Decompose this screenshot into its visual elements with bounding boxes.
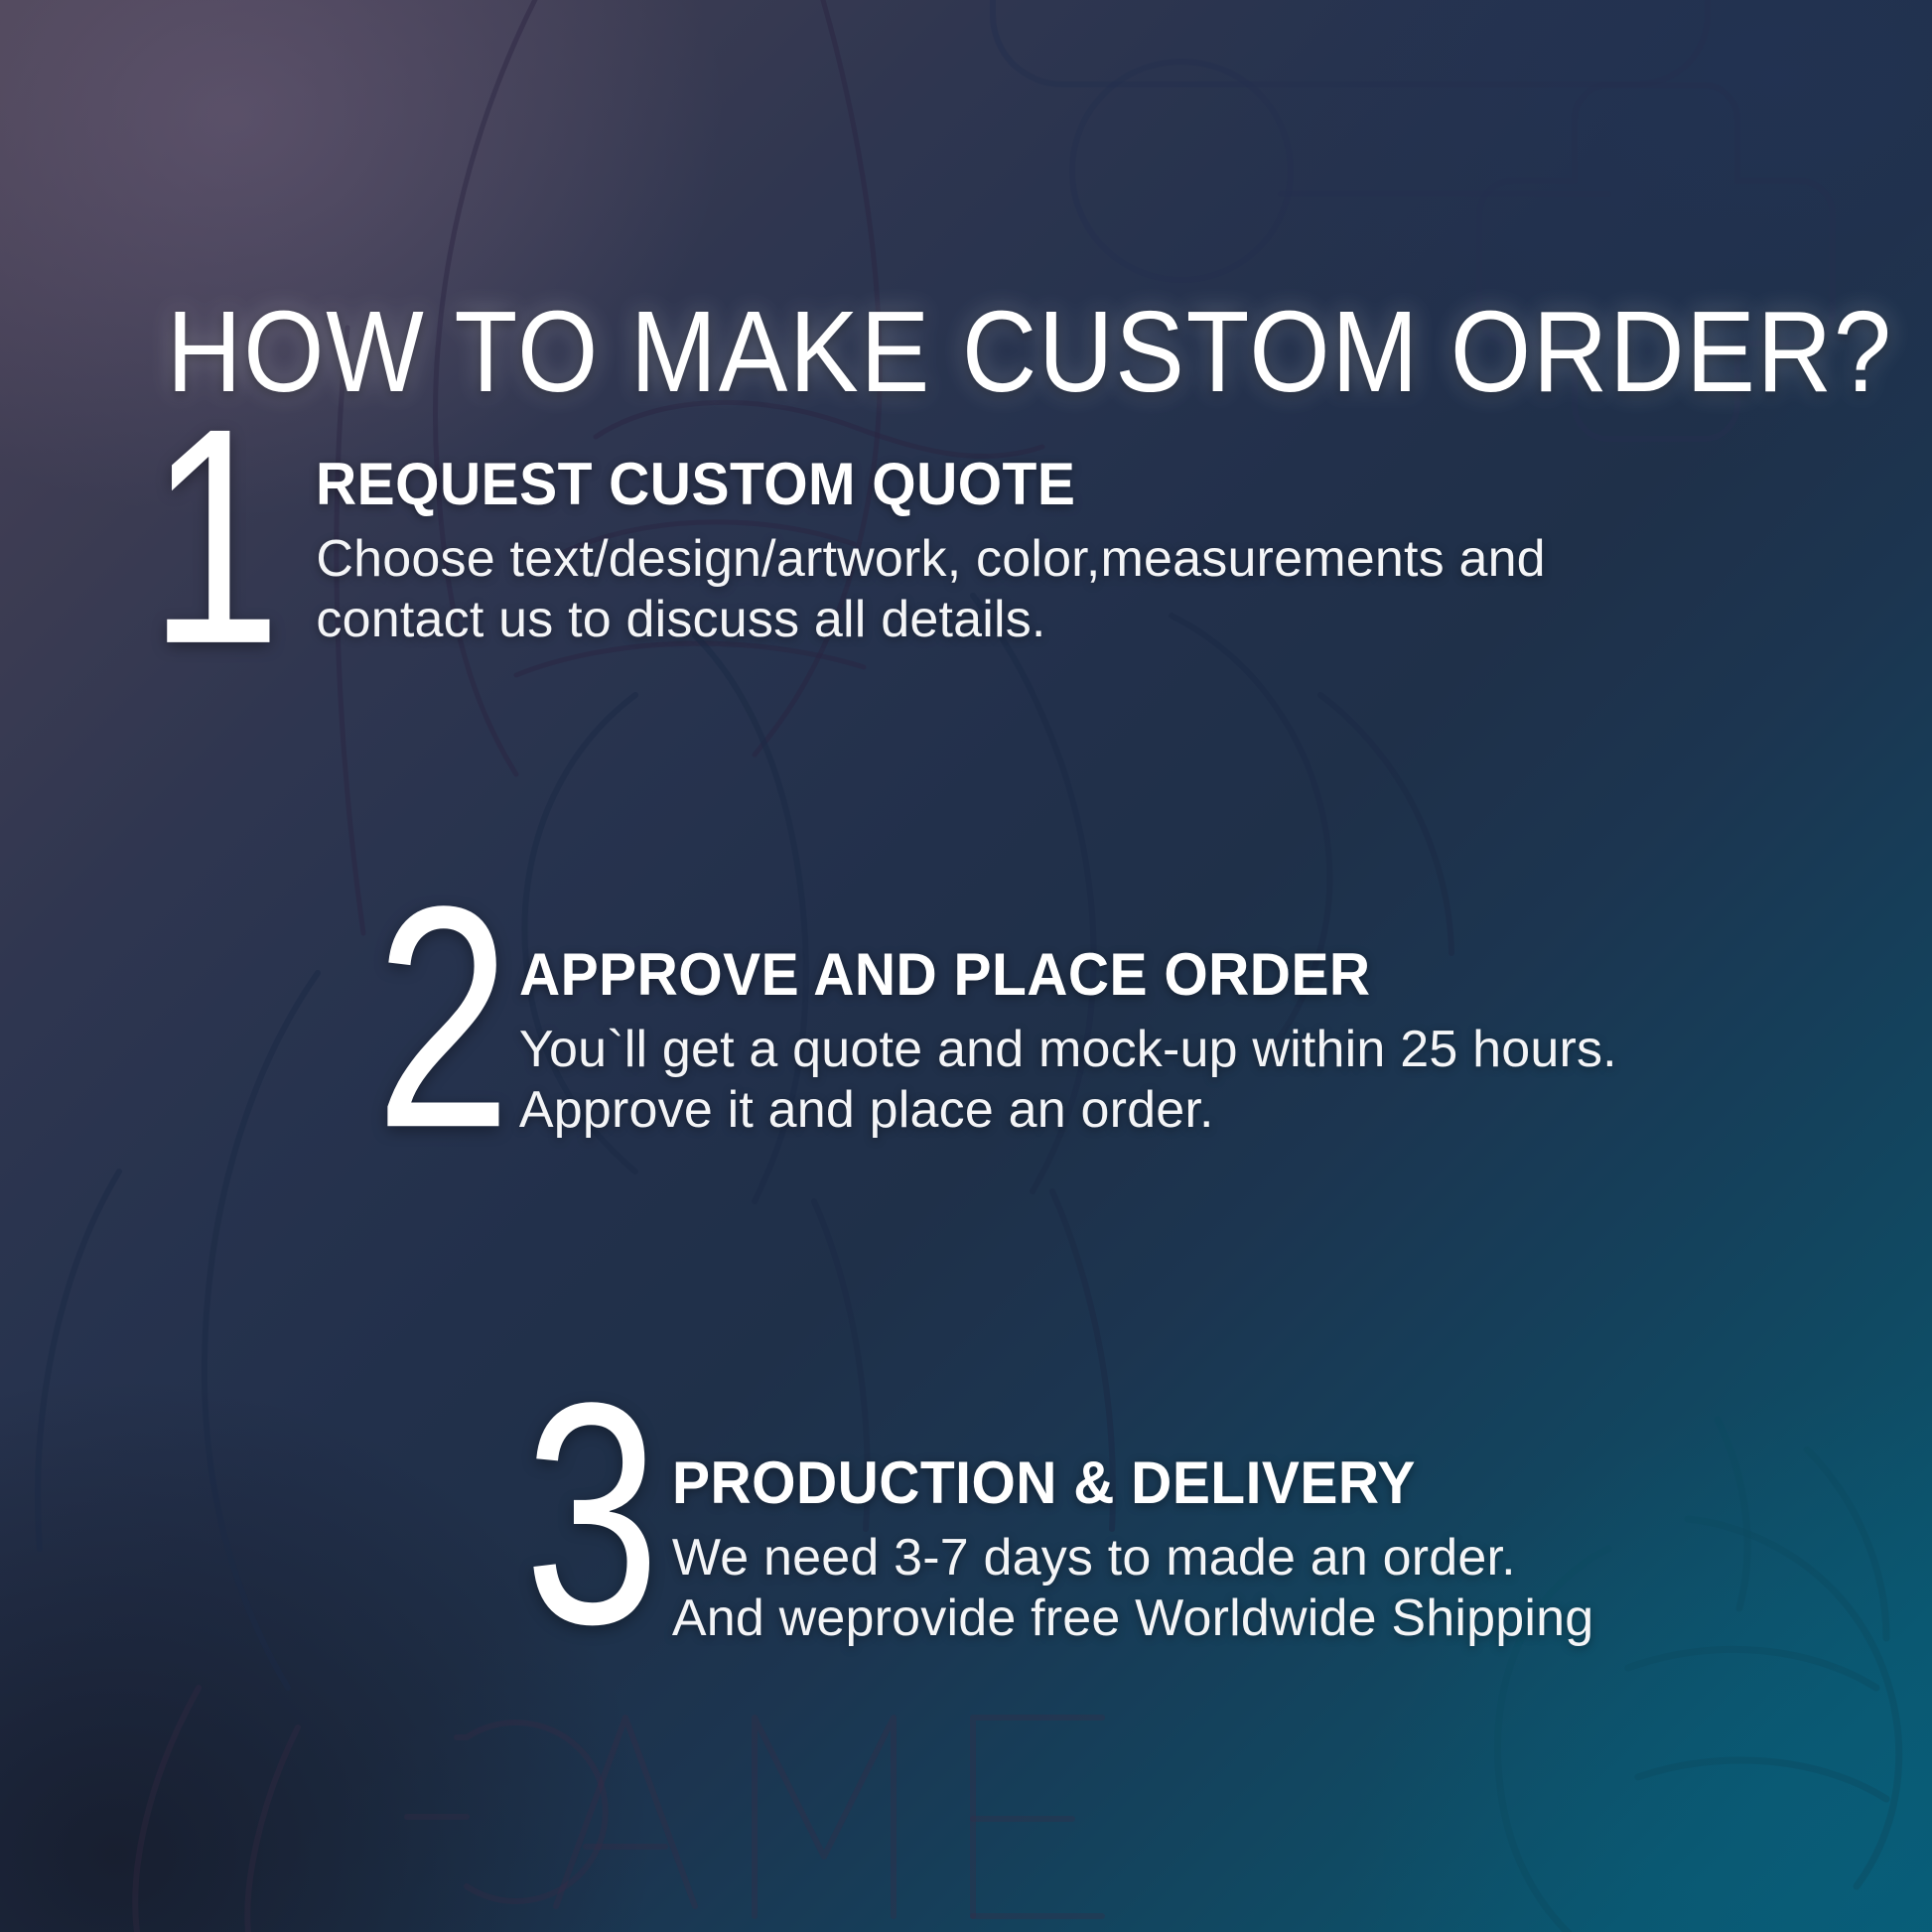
- step-heading-3: PRODUCTION & DELIVERY: [672, 1451, 1548, 1514]
- step-description-2: You`ll get a quote and mock-up within 25…: [519, 1020, 1617, 1142]
- step-number-3: 3: [524, 1390, 660, 1636]
- step-description-3: We need 3-7 days to made an order. And w…: [672, 1528, 1594, 1650]
- step-heading-2: APPROVE AND PLACE ORDER: [519, 943, 1563, 1006]
- poster-canvas: HOW TO MAKE CUSTOM ORDER? 1 REQUEST CUST…: [0, 0, 1932, 1932]
- step-item-1: 1 REQUEST CUSTOM QUOTE Choose text/desig…: [149, 417, 1546, 651]
- step-body-1: REQUEST CUSTOM QUOTE Choose text/design/…: [316, 417, 1545, 651]
- step-body-2: APPROVE AND PLACE ORDER You`ll get a quo…: [519, 894, 1617, 1142]
- step-description-1: Choose text/design/artwork, color,measur…: [316, 529, 1545, 651]
- step-heading-1: REQUEST CUSTOM QUOTE: [316, 453, 1483, 515]
- page-title: HOW TO MAKE CUSTOM ORDER?: [167, 294, 1893, 409]
- step-item-3: 3 PRODUCTION & DELIVERY We need 3-7 days…: [524, 1390, 1593, 1650]
- step-item-2: 2 APPROVE AND PLACE ORDER You`ll get a q…: [375, 894, 1617, 1142]
- poster-content: HOW TO MAKE CUSTOM ORDER? 1 REQUEST CUST…: [0, 0, 1932, 1932]
- step-body-3: PRODUCTION & DELIVERY We need 3-7 days t…: [672, 1390, 1594, 1650]
- step-number-2: 2: [375, 894, 511, 1140]
- step-number-1: 1: [149, 417, 281, 656]
